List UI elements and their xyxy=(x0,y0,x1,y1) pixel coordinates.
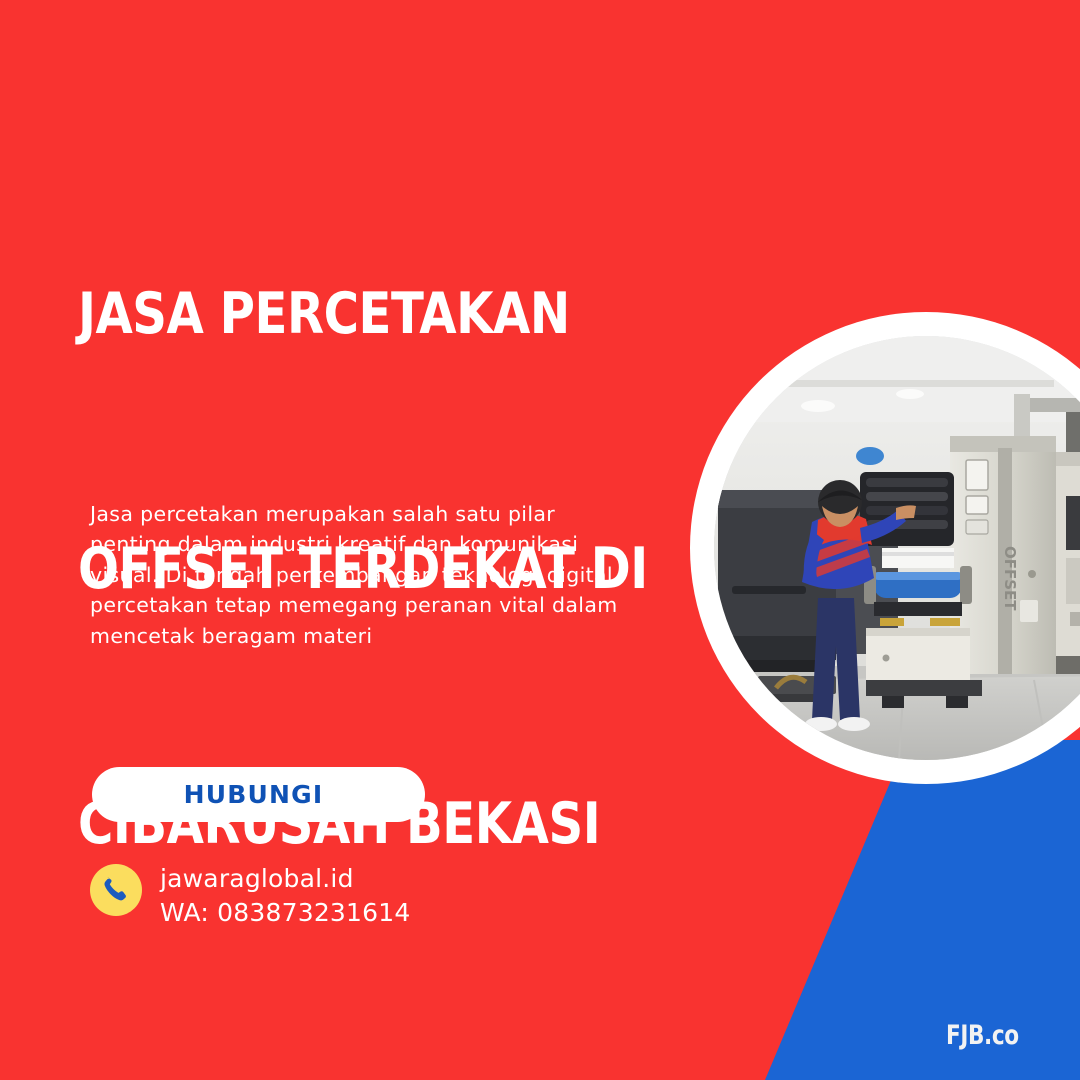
offset-press-photo: OFFSET xyxy=(714,336,1080,760)
contact-whatsapp[interactable]: WA: 083873231614 xyxy=(160,896,410,930)
body-paragraph: Jasa percetakan merupakan salah satu pil… xyxy=(90,499,620,652)
svg-text:OFFSET: OFFSET xyxy=(1001,546,1019,611)
contact-website[interactable]: jawaraglobal.id xyxy=(160,862,410,896)
promo-poster: OFFSET xyxy=(0,0,1080,1080)
contact-details: jawaraglobal.id WA: 083873231614 xyxy=(160,862,410,930)
hubungi-button-label: HUBUNGI xyxy=(184,780,324,809)
photo-circle-frame: OFFSET xyxy=(690,312,1080,784)
headline-line-1: JASA PERCETAKAN xyxy=(78,272,698,357)
contact-block: jawaraglobal.id WA: 083873231614 xyxy=(90,862,410,930)
brand-logo: FJB.co xyxy=(946,1020,1019,1051)
offset-press-illustration: OFFSET xyxy=(714,336,1080,760)
hubungi-button[interactable]: HUBUNGI xyxy=(92,767,425,822)
phone-icon xyxy=(90,864,142,916)
